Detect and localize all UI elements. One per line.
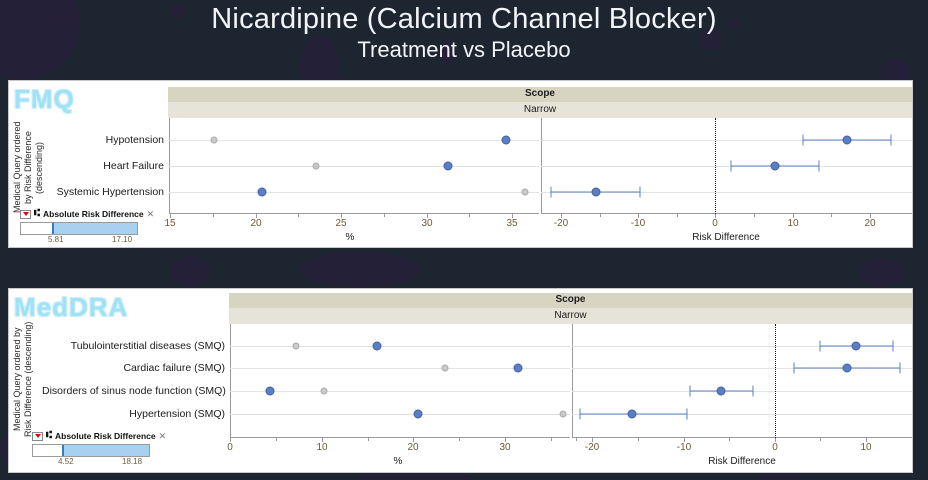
ci-cap-low-heart-failure: [731, 161, 732, 172]
filter-label: Absolute Risk Difference: [55, 431, 156, 441]
marker-treatment-tubulointerstitial[interactable]: [373, 342, 382, 351]
tick-label: -10: [631, 218, 645, 229]
fmq-percent-plot[interactable]: [169, 118, 539, 214]
tick: [298, 214, 299, 217]
ci-cap-low-hypotension: [803, 135, 804, 146]
tick-label: 10: [860, 442, 871, 453]
title-block: Nicardipine (Calcium Channel Blocker) Tr…: [0, 0, 928, 64]
range-min-value: 4.52: [58, 457, 74, 466]
tick: [576, 438, 577, 441]
tick-label: 20: [250, 218, 261, 229]
measure-icon: ⑆: [46, 431, 52, 441]
tick-label: 20: [864, 218, 875, 229]
tick: [600, 214, 601, 217]
tick-label: 20: [407, 442, 418, 453]
category-label-fmq-0: Hypotension: [40, 134, 164, 146]
filter-absolute-risk-difference-meddra[interactable]: ⑆ Absolute Risk Difference ✕ 4.52 18.18: [32, 430, 166, 468]
ci-cap-low-tubulointerstitial: [820, 341, 821, 352]
marker-treatment-systemic-hypertension[interactable]: [258, 188, 267, 197]
marker-placebo-systemic-hypertension[interactable]: [522, 189, 529, 196]
scope-value-meddra: Narrow: [229, 308, 912, 324]
dropdown-caret-icon[interactable]: [20, 210, 31, 219]
zero-reference-line: [715, 118, 716, 214]
dropdown-caret-icon[interactable]: [32, 432, 43, 441]
gridline: [169, 140, 539, 141]
y-axis-caption-meddra: Medical Query ordered by Risk Difference…: [12, 320, 46, 438]
filter-label: Absolute Risk Difference: [43, 209, 144, 219]
gridline: [169, 166, 539, 167]
tick: [459, 438, 460, 441]
range-slider-handle[interactable]: [52, 223, 54, 234]
meddra-right-axis: [572, 324, 573, 438]
meddra-risk-difference-plot[interactable]: [572, 324, 912, 438]
estimate-sinus-node[interactable]: [717, 387, 726, 396]
estimate-hypertension[interactable]: [628, 410, 637, 419]
remove-filter-icon[interactable]: ✕: [159, 431, 167, 442]
tick: [384, 214, 385, 217]
marker-treatment-hypertension[interactable]: [414, 410, 423, 419]
marker-treatment-heart-failure[interactable]: [444, 162, 453, 171]
marker-placebo-cardiac-failure[interactable]: [442, 365, 449, 372]
scope-header-fmq: Scope: [168, 87, 912, 102]
x-axis-title-meddra-left: %: [394, 456, 403, 467]
tick: [677, 214, 678, 217]
tick: [638, 438, 639, 441]
meddra-left-baseline: [230, 437, 570, 438]
page-subtitle: Treatment vs Placebo: [0, 36, 928, 64]
scope-header-meddra: Scope: [229, 293, 912, 308]
tick: [469, 214, 470, 217]
meddra-right-baseline: [572, 437, 912, 438]
tick-label: 0: [712, 218, 718, 229]
range-slider-handle[interactable]: [62, 445, 64, 456]
ci-cap-high-heart-failure: [819, 161, 820, 172]
estimate-hypotension[interactable]: [843, 136, 852, 145]
marker-treatment-hypotension[interactable]: [502, 136, 511, 145]
marker-treatment-cardiac-failure[interactable]: [514, 364, 523, 373]
range-slider-meddra[interactable]: [32, 444, 150, 457]
gridline: [230, 346, 570, 347]
ci-cap-high-tubulointerstitial: [893, 341, 894, 352]
tick-label: 15: [164, 218, 175, 229]
estimate-heart-failure[interactable]: [771, 162, 780, 171]
gridline: [541, 166, 912, 167]
marker-placebo-hypertension[interactable]: [560, 411, 567, 418]
filter-absolute-risk-difference-fmq[interactable]: ⑆ Absolute Risk Difference ✕ 5.81 17.10: [20, 208, 154, 246]
tick: [754, 214, 755, 217]
tick: [729, 438, 730, 441]
brand-label-fmq: FMQ: [14, 84, 75, 115]
range-max-value: 17.10: [112, 235, 132, 244]
marker-placebo-heart-failure[interactable]: [313, 163, 320, 170]
estimate-cardiac-failure[interactable]: [843, 364, 852, 373]
tick: [368, 438, 369, 441]
ci-cap-high-hypertension: [687, 409, 688, 420]
marker-placebo-sinus-node[interactable]: [321, 388, 328, 395]
tick-label: -20: [585, 442, 599, 453]
marker-placebo-tubulointerstitial[interactable]: [293, 343, 300, 350]
gridline: [230, 391, 570, 392]
brand-label-meddra: MedDRA: [14, 292, 128, 323]
range-min-value: 5.81: [48, 235, 64, 244]
remove-filter-icon[interactable]: ✕: [147, 209, 155, 220]
tick-label: 30: [499, 442, 510, 453]
tick: [213, 214, 214, 217]
category-label-meddra-1: Cardiac failure (SMQ): [55, 362, 225, 374]
estimate-tubulointerstitial[interactable]: [852, 342, 861, 351]
tick-label: -10: [677, 442, 691, 453]
category-label-meddra-3: Hypertension (SMQ): [55, 408, 225, 420]
category-label-meddra-0: Tubulointerstitial diseases (SMQ): [55, 340, 225, 352]
ci-cap-high-cardiac-failure: [900, 363, 901, 374]
meddra-left-axis: [230, 324, 231, 438]
tick-label: 25: [335, 218, 346, 229]
ci-cap-low-hypertension: [580, 409, 581, 420]
tick: [820, 438, 821, 441]
ci-cap-high-sinus-node: [753, 386, 754, 397]
tick-label: 30: [421, 218, 432, 229]
x-axis-title-fmq-left: %: [346, 232, 355, 243]
marker-placebo-hypotension[interactable]: [211, 137, 218, 144]
tick-label: -20: [554, 218, 568, 229]
gridline: [230, 414, 570, 415]
tick-label: 0: [227, 442, 233, 453]
tick-label: 10: [787, 218, 798, 229]
ci-cap-high-hypotension: [891, 135, 892, 146]
zero-reference-line: [775, 324, 776, 438]
ci-cap-low-systemic-hypertension: [551, 187, 552, 198]
category-label-meddra-2: Disorders of sinus node function (SMQ): [42, 385, 225, 397]
tick-label: 10: [316, 442, 327, 453]
fmq-risk-difference-plot[interactable]: [541, 118, 912, 214]
scope-value-fmq: Narrow: [168, 102, 912, 118]
ci-cap-high-systemic-hypertension: [640, 187, 641, 198]
x-axis-title-fmq-right: Risk Difference: [692, 232, 760, 243]
tick: [551, 438, 552, 441]
x-axis-title-meddra-right: Risk Difference: [708, 456, 776, 467]
range-slider-fmq[interactable]: [20, 222, 138, 235]
ci-cap-low-cardiac-failure: [794, 363, 795, 374]
ci-cap-low-sinus-node: [690, 386, 691, 397]
fmq-right-baseline: [541, 213, 912, 214]
category-label-fmq-2: Systemic Hypertension: [40, 186, 164, 198]
gridline: [169, 192, 539, 193]
measure-icon: ⑆: [34, 209, 40, 219]
tick-label: 35: [506, 218, 517, 229]
marker-treatment-sinus-node[interactable]: [266, 387, 275, 396]
tick: [276, 438, 277, 441]
page-title: Nicardipine (Calcium Channel Blocker): [0, 0, 928, 36]
fmq-left-baseline: [169, 213, 539, 214]
estimate-systemic-hypertension[interactable]: [592, 188, 601, 197]
tick: [831, 214, 832, 217]
meddra-percent-plot[interactable]: [230, 324, 570, 438]
range-max-value: 18.18: [122, 457, 142, 466]
tick-label: 0: [772, 442, 778, 453]
category-label-fmq-1: Heart Failure: [40, 160, 164, 172]
